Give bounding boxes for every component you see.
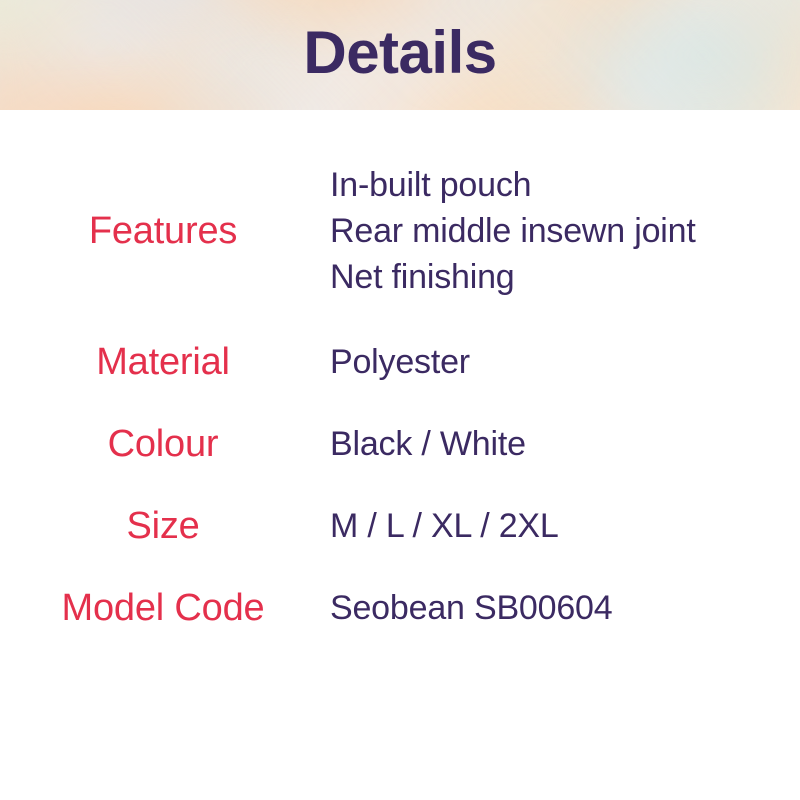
spec-value-size: M / L / XL / 2XL [330, 503, 800, 549]
product-details-table: Features In-built pouch Rear middle inse… [0, 110, 800, 632]
details-header-banner: Details [0, 0, 800, 110]
table-row-features: Features In-built pouch Rear middle inse… [0, 162, 800, 301]
spec-label-size: Size [0, 505, 330, 548]
spec-value-line: Polyester [330, 339, 780, 385]
spec-label-material: Material [0, 341, 330, 384]
spec-value-line: Rear middle insewn joint [330, 208, 780, 254]
table-row-model-code: Model Code Seobean SB00604 [0, 585, 800, 631]
spec-label-colour: Colour [0, 423, 330, 466]
spec-label-features: Features [0, 210, 330, 253]
table-row-size: Size M / L / XL / 2XL [0, 503, 800, 549]
spec-value-colour: Black / White [330, 421, 800, 467]
spec-value-line: Black / White [330, 421, 780, 467]
spec-value-model-code: Seobean SB00604 [330, 585, 800, 631]
table-row-colour: Colour Black / White [0, 421, 800, 467]
spec-value-material: Polyester [330, 339, 800, 385]
spec-value-line: Seobean SB00604 [330, 585, 780, 631]
table-row-material: Material Polyester [0, 339, 800, 385]
spec-value-line: In-built pouch [330, 162, 780, 208]
spec-value-line: M / L / XL / 2XL [330, 503, 780, 549]
page-title: Details [0, 0, 800, 110]
spec-value-features: In-built pouch Rear middle insewn joint … [330, 162, 800, 301]
spec-value-line: Net finishing [330, 254, 780, 300]
spec-label-model-code: Model Code [0, 587, 330, 630]
